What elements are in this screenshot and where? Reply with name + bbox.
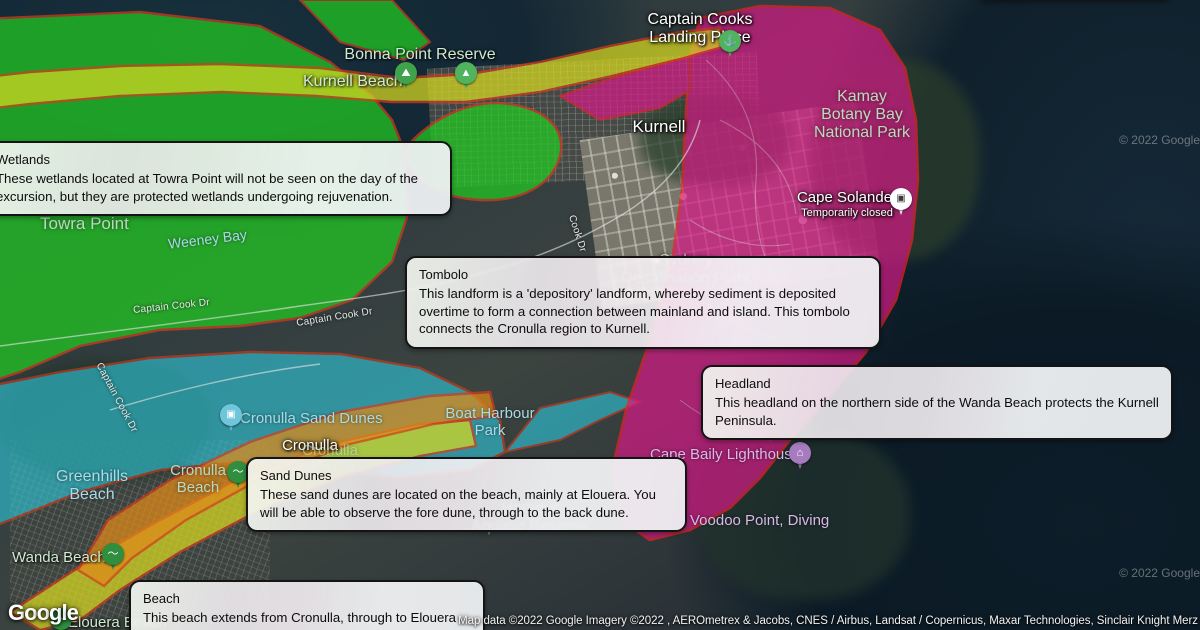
pin-glyph-wanda-beach: 〜 (108, 549, 119, 560)
callout-longshore-drift[interactable]: stop longshore drift. (976, 0, 1174, 1)
poi-pin-cape-solander[interactable]: ▣ (890, 188, 912, 216)
poi-pin-bonna-point-reserve[interactable]: ▲ (455, 62, 477, 90)
map-viewport[interactable]: Bonna Point Reserve Kurnell Beach Captai… (0, 0, 1200, 630)
pin-glyph-cape-baily: ⌂ (797, 448, 804, 459)
anchor-icon: ⚓ (719, 30, 741, 52)
callout-wetlands[interactable]: Wetlands These wetlands located at Towra… (0, 141, 452, 216)
poi-pin-wanda-beach[interactable]: 〜 (102, 543, 124, 571)
tree-icon: ▲ (455, 62, 477, 84)
wave-icon: 〜 (102, 543, 124, 565)
callout-headland-body: This headland on the northern side of th… (715, 394, 1159, 429)
poi-pin-captain-cooks-landing[interactable]: ⚓ (719, 30, 741, 58)
callout-sand-dunes[interactable]: Sand Dunes These sand dunes are located … (246, 457, 687, 532)
callout-beach-body: This beach extends from Cronulla, throug… (143, 609, 471, 630)
camera-icon: ▣ (220, 404, 242, 426)
callout-sand-dunes-title: Sand Dunes (260, 467, 673, 484)
callout-beach-title: Beach (143, 590, 471, 607)
google-logo-letter-o2: o (37, 600, 49, 625)
pin-glyph-captain-cooks: ⚓ (723, 36, 737, 47)
pin-glyph-cronulla-sand-dunes: ▣ (226, 410, 235, 420)
google-logo-letter-G: G (8, 600, 24, 625)
callout-sand-dunes-body: These sand dunes are located on the beac… (260, 486, 673, 521)
callout-wetlands-title: Wetlands (0, 151, 438, 168)
callout-beach[interactable]: Beach This beach extends from Cronulla, … (129, 580, 485, 630)
callout-tombolo-title: Tombolo (419, 266, 867, 283)
map-attribution: Map data ©2022 Google Imagery ©2022 , AE… (458, 615, 1198, 627)
callout-tombolo-body: This landform is a 'depository' landform… (419, 285, 867, 338)
google-logo-letter-g: g (49, 600, 61, 625)
museum-icon: ⌂ (789, 442, 811, 464)
pin-glyph-bonna-point: ▲ (461, 68, 472, 79)
pin-glyph-cape-solander: ▣ (896, 194, 905, 204)
poi-pin-kurnell-beach[interactable]: ⛰ (395, 62, 417, 90)
mountain-icon: ⛰ (395, 62, 417, 84)
poi-pin-cronulla-sand-dunes[interactable]: ▣ (220, 404, 242, 432)
google-logo-letter-o1: o (24, 600, 36, 625)
google-logo[interactable]: Google (8, 600, 78, 626)
callout-headland-title: Headland (715, 375, 1159, 392)
callout-headland[interactable]: Headland This headland on the northern s… (701, 365, 1173, 440)
pin-glyph-kurnell-beach: ⛰ (401, 68, 410, 79)
callout-tombolo[interactable]: Tombolo This landform is a 'depository' … (405, 256, 881, 349)
poi-pin-cape-baily-lighthouse[interactable]: ⌂ (789, 442, 811, 470)
camera-icon: ▣ (890, 188, 912, 210)
google-logo-letter-e: e (67, 600, 78, 625)
callout-wetlands-body: These wetlands located at Towra Point wi… (0, 170, 438, 205)
pin-glyph-cronulla-beach: 〜 (233, 467, 244, 478)
